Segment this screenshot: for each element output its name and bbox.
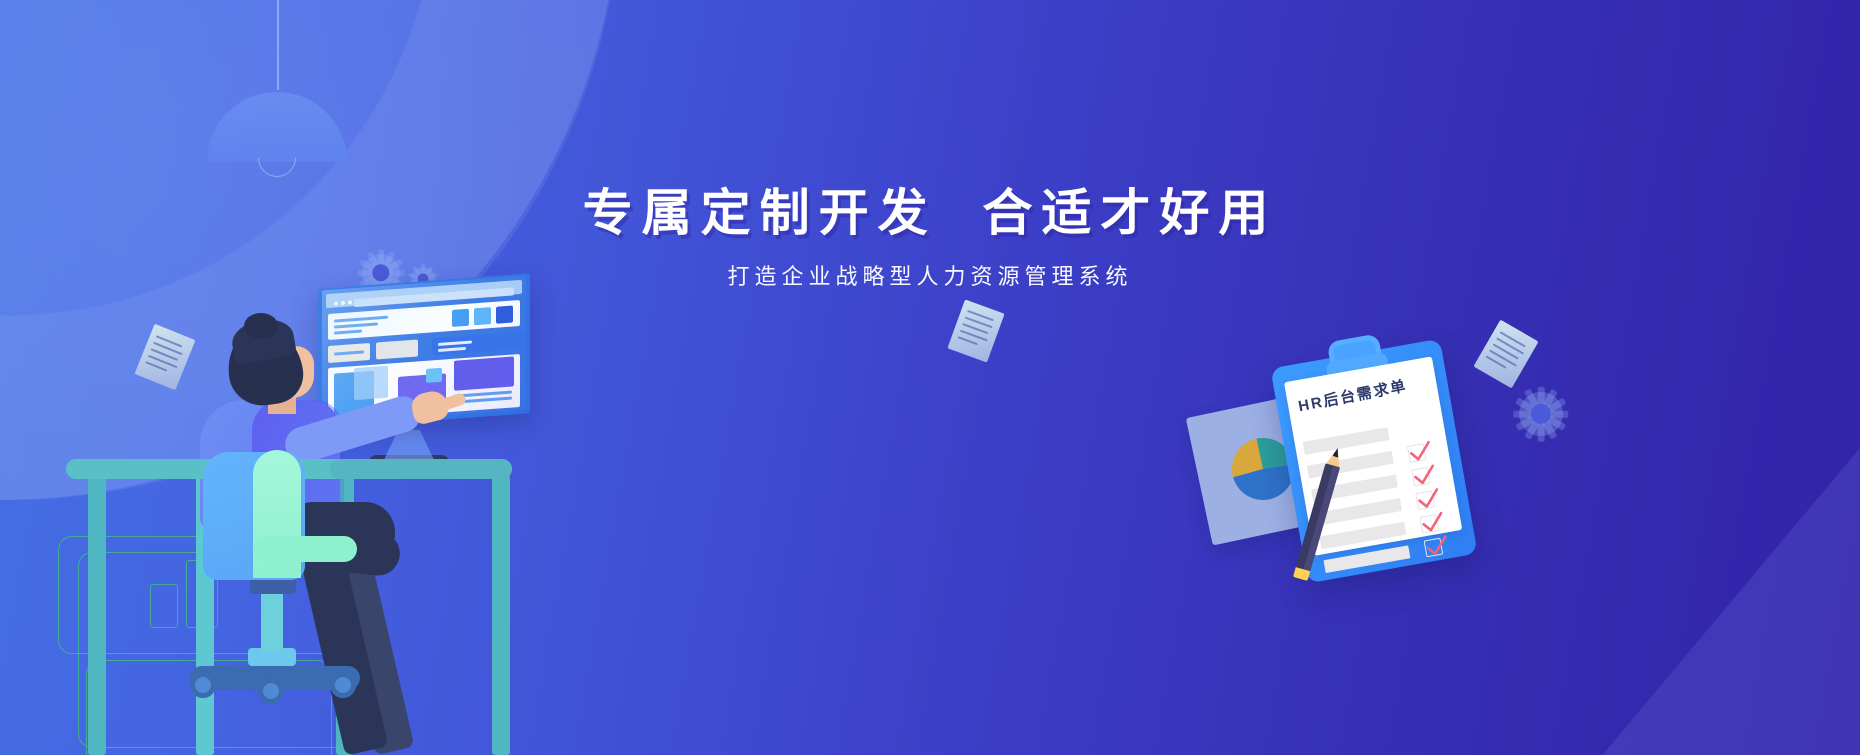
doc-line xyxy=(957,336,977,345)
check-icon xyxy=(1407,440,1434,466)
chair-hub xyxy=(250,578,296,594)
wire-rect-3 xyxy=(150,584,178,628)
chair-caster xyxy=(330,672,356,698)
screen-tile xyxy=(354,366,388,400)
desk-leg-left xyxy=(88,475,106,755)
page-title: 专属定制开发 合适才好用 xyxy=(0,184,1860,242)
chair-caster xyxy=(190,672,216,698)
doc-line xyxy=(1493,343,1519,359)
banner-copy: 专属定制开发 合适才好用 打造企业战略型人力资源管理系统 xyxy=(0,184,1860,291)
bottom-right-diagonal-bar-2 xyxy=(1521,220,1860,755)
desk-top-right xyxy=(330,459,512,479)
doc-line xyxy=(1500,331,1526,347)
check-icon xyxy=(1411,464,1438,490)
check-icon xyxy=(1423,534,1450,560)
screen-swatch xyxy=(452,309,469,327)
floating-document-right xyxy=(1473,320,1538,389)
check-icon xyxy=(1415,487,1442,513)
floating-document-mid xyxy=(947,299,1004,362)
check-icon xyxy=(1419,511,1446,537)
gear-right-icon xyxy=(1519,392,1563,436)
lamp-cord-icon xyxy=(277,0,279,90)
screen-chip xyxy=(376,339,418,359)
screen-tile xyxy=(454,356,514,390)
doc-line xyxy=(1489,350,1516,367)
chair-armrest xyxy=(253,536,357,562)
pencil-lead xyxy=(1332,447,1340,457)
screen-tile xyxy=(426,368,442,383)
clipboard: HR后台需求单 xyxy=(1270,339,1477,584)
lamp-shade-icon xyxy=(207,92,347,162)
clipboard-title: HR后台需求单 xyxy=(1296,370,1430,416)
screen-swatch xyxy=(496,305,513,323)
lamp-bulb-icon xyxy=(258,158,296,177)
page-subtitle: 打造企业战略型人力资源管理系统 xyxy=(0,259,1860,291)
person-hair-bun xyxy=(244,313,278,339)
floating-document-left xyxy=(134,324,195,391)
window-dots-icon xyxy=(334,300,352,305)
chair-caster xyxy=(258,678,284,704)
hero-banner: HR后台需求单 xyxy=(0,0,1860,755)
gear-ring xyxy=(1519,392,1563,436)
desk-leg-far-right xyxy=(492,475,510,755)
clipboard-paper: HR后台需求单 xyxy=(1284,356,1462,555)
doc-line xyxy=(1496,337,1523,354)
screen-swatch xyxy=(474,307,491,325)
chair-post xyxy=(261,592,283,652)
